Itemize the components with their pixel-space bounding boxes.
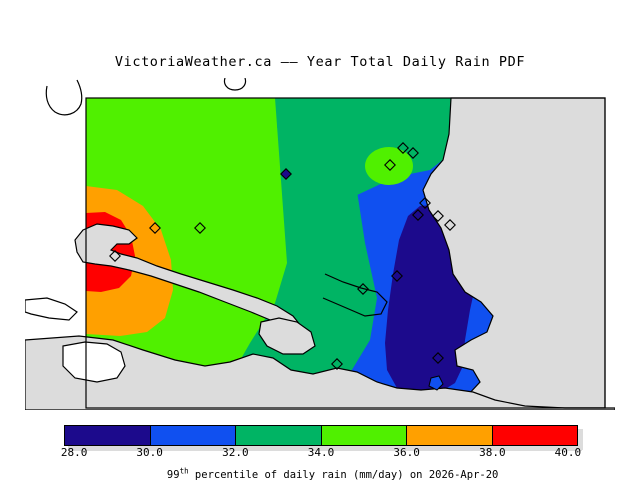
colorbar[interactable]: [64, 425, 578, 446]
contour-band-34-36-local-high: [365, 147, 413, 185]
caption-ordinal-suffix: th: [180, 467, 189, 476]
colorbar-band-36.0-38.0[interactable]: [407, 426, 493, 445]
colorbar-caption: 99th percentile of daily rain (mm/day) o…: [0, 457, 640, 493]
colorbar-band-28.0-30.0[interactable]: [65, 426, 151, 445]
map-plot-area[interactable]: [25, 78, 615, 410]
caption-percentile-number: 99: [167, 469, 180, 481]
colorbar-bands[interactable]: [64, 425, 578, 446]
colorbar-band-38.0-40.0[interactable]: [493, 426, 578, 445]
colorbar-band-32.0-34.0[interactable]: [236, 426, 322, 445]
weather-map-page: VictoriaWeather.ca —— Year Total Daily R…: [0, 0, 640, 480]
colorbar-band-30.0-32.0[interactable]: [151, 426, 237, 445]
contour-map[interactable]: [25, 78, 615, 410]
caption-rest: percentile of daily rain (mm/day) on 202…: [189, 469, 499, 481]
colorbar-band-34.0-36.0[interactable]: [322, 426, 408, 445]
page-title: VictoriaWeather.ca —— Year Total Daily R…: [0, 54, 640, 70]
